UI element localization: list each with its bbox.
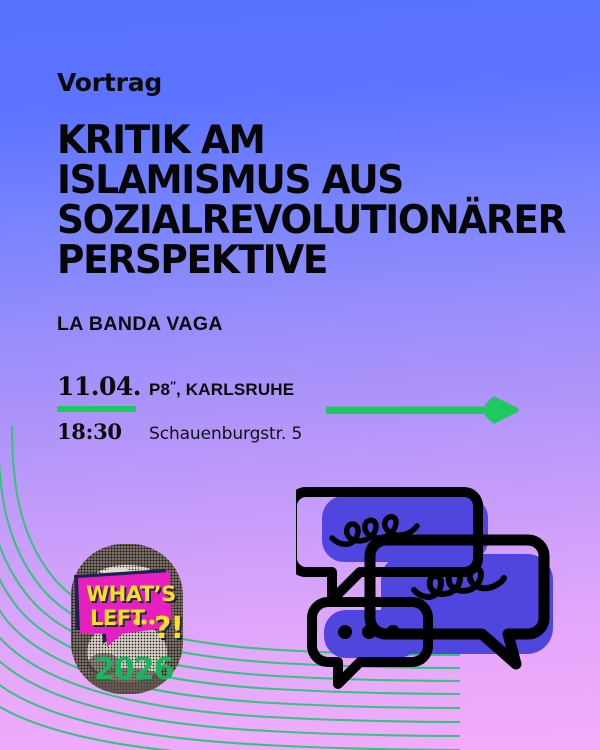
event-street-address: Schauenburgstr. 5 bbox=[149, 424, 302, 444]
whats-left-badge[interactable]: WHAT’S WHAT’S LEFT LEFT ?! ?! 2026 bbox=[56, 532, 198, 704]
headline-line-3: SOZIALREVOLUTIONÄRER bbox=[57, 201, 537, 241]
poster-text-block: Vortrag KRITIK AM ISLAMISMUS AUS SOZIALR… bbox=[57, 0, 600, 336]
speaker-name: LA BANDA VAGA bbox=[57, 313, 600, 336]
headline-line-2: ISLAMISMUS AUS bbox=[57, 161, 537, 201]
event-date: 11.04. bbox=[57, 372, 149, 401]
headline-line-1: KRITIK AM bbox=[57, 121, 537, 161]
venue-name: P8 bbox=[149, 380, 170, 399]
event-poster: Vortrag KRITIK AM ISLAMISMUS AUS SOZIALR… bbox=[0, 0, 600, 750]
badge-year: 2026 bbox=[94, 652, 174, 687]
venue-city: , KARLSRUHE bbox=[176, 380, 294, 399]
badge-ellipsis bbox=[133, 619, 154, 624]
speech-bubbles-illustration bbox=[296, 462, 596, 692]
headline-line-4: PERSPEKTIVE bbox=[57, 241, 537, 281]
badge-line1: WHAT’S bbox=[86, 582, 176, 606]
event-time: 18:30 bbox=[57, 419, 149, 444]
badge-punct: ?! bbox=[154, 611, 183, 646]
arrow-right-icon bbox=[326, 396, 522, 424]
date-underline-rule bbox=[57, 406, 136, 412]
page-title: KRITIK AM ISLAMISMUS AUS SOZIALREVOLUTIO… bbox=[57, 121, 537, 281]
event-venue: P8″, KARLSRUHE bbox=[149, 379, 294, 400]
badge-line2: LEFT bbox=[90, 606, 146, 630]
event-type-kicker: Vortrag bbox=[57, 68, 600, 97]
